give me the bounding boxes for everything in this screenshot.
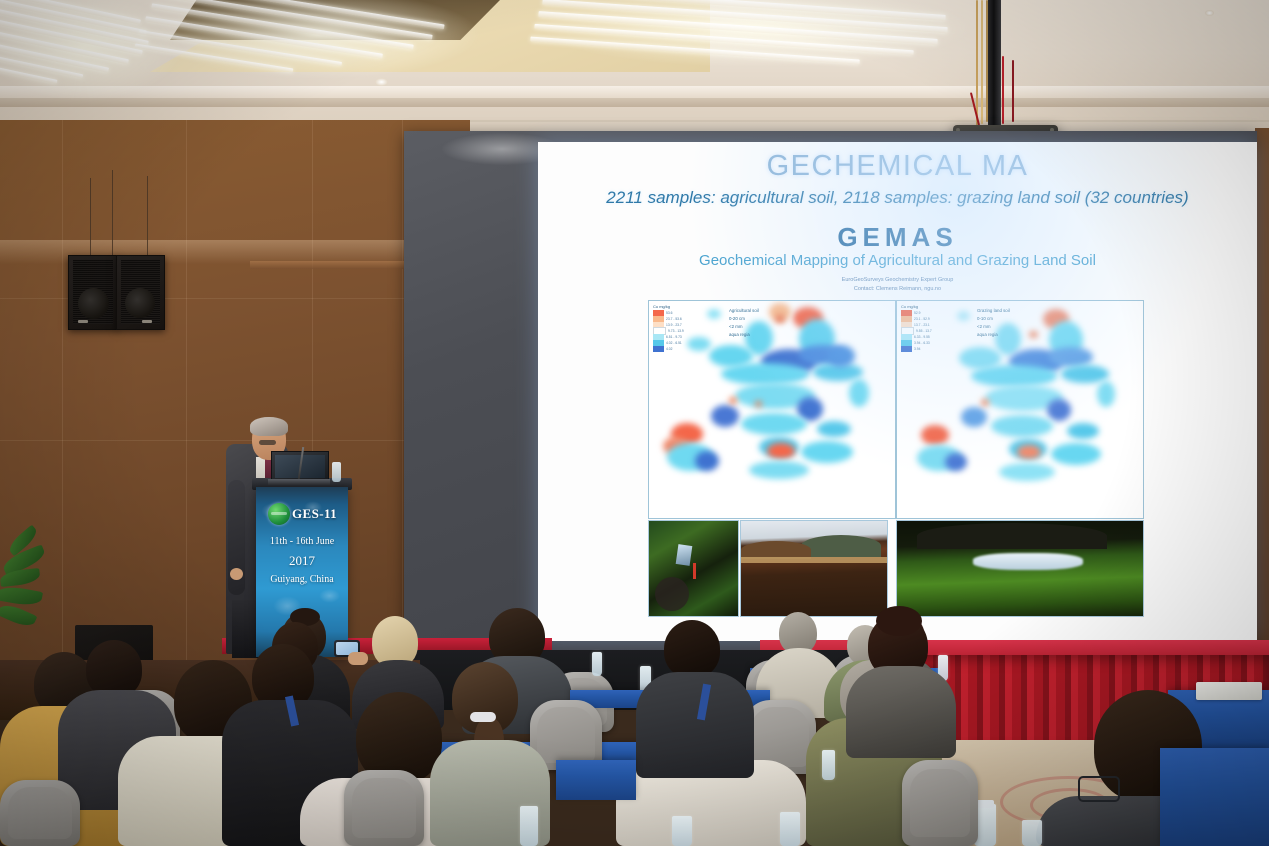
sampling-trowel [676, 544, 693, 566]
grazing-land-soil-map: Cu mg/kg 52.9 23.1 - 52.9 13.7 - 23.1 9.… [896, 300, 1144, 519]
legend-label: 9.73 - 13.9 [668, 329, 684, 333]
chandelier-right [536, 0, 976, 62]
water-bottle [520, 806, 538, 846]
hair-tie [470, 712, 496, 722]
map-medium: Grazing land soil [977, 307, 1010, 315]
torso [636, 672, 754, 778]
plowed-field-photo [740, 520, 888, 617]
projector-cables [972, 0, 1018, 134]
map-digestion: aqua regia [977, 331, 1010, 339]
conference-presentation-photo: GECHEMICAL MA 2211 samples: agricultural… [0, 0, 1269, 846]
legend-label: 4.02 - 6.51 [666, 341, 682, 345]
map-depth: 0-20 cm [729, 315, 759, 323]
legend-label: 13.7 - 23.1 [914, 323, 930, 327]
water-bottle [592, 652, 602, 676]
presenter-hair [250, 417, 288, 436]
legend-label: 4.02 [666, 347, 672, 351]
legend-swatch [653, 346, 664, 352]
audience-table [1160, 748, 1269, 846]
legend-label: 23.7 - 53.6 [666, 317, 682, 321]
water-bottle [1022, 820, 1042, 846]
presenter-hand [230, 568, 243, 580]
head [664, 620, 720, 678]
speaker-hanger-wire [90, 178, 91, 256]
event-dates-label: 11th - 16th June [256, 536, 348, 547]
audience-chair [902, 760, 978, 846]
ceiling-downlight [375, 78, 388, 86]
laptop-keyboard [268, 479, 330, 485]
wall-speaker-right [116, 255, 165, 330]
speaker-hanger-wire [147, 176, 148, 256]
legend-label: 53.6 [666, 311, 672, 315]
podium-water-bottle [332, 462, 341, 482]
bottle-cap [976, 800, 994, 808]
speaker-hanger-wire [112, 170, 113, 256]
scale-marker [693, 563, 696, 579]
projection-screen: GECHEMICAL MA 2211 samples: agricultural… [538, 142, 1257, 641]
map-medium: Agricultural soil [729, 307, 759, 315]
map-fraction: <2 mm [977, 323, 1010, 331]
grazing-land-photo [896, 520, 1144, 617]
map-metadata: Grazing land soil 0-10 cm <2 mm aqua reg… [977, 307, 1010, 340]
legend-title: Cu mg/kg [653, 304, 711, 309]
hand [348, 652, 368, 665]
legend-label: 6.33 - 9.55 [914, 335, 930, 339]
legend-label: 23.1 - 52.9 [914, 317, 930, 321]
slide-title: GECHEMICAL MA [538, 150, 1257, 183]
slide-fine-print: EuroGeoSurveys Geochemistry Expert Group… [538, 276, 1257, 293]
event-location-label: Guiyang, China [256, 574, 348, 585]
wall-speaker-left [68, 255, 118, 330]
legend-label: 3.94 - 6.33 [914, 341, 930, 345]
water-bottle [822, 750, 835, 780]
presenter-mustache [259, 440, 276, 445]
legend-swatch [901, 346, 912, 352]
right-wall-strip [1255, 128, 1269, 648]
slide-fine-print-line1: EuroGeoSurveys Geochemistry Expert Group [538, 276, 1257, 285]
map-digestion: aqua regia [729, 331, 759, 339]
legend-label: 3.94 [914, 347, 920, 351]
soil-sampling-photo [648, 520, 739, 617]
slide-project-name: Geochemical Mapping of Agricultural and … [538, 252, 1257, 269]
hair-bun [876, 606, 922, 636]
map-legend: Cu mg/kg 52.9 23.1 - 52.9 13.7 - 23.1 9.… [901, 304, 959, 352]
slide-fine-print-line2: Contact: Clemens Reimann, ngu.no [538, 285, 1257, 294]
crown-molding [0, 86, 1269, 98]
slide-subtitle: 2211 samples: agricultural soil, 2118 sa… [538, 188, 1257, 208]
map-fraction: <2 mm [729, 323, 759, 331]
audience-chair [0, 780, 80, 846]
torso [846, 666, 956, 758]
legend-label: 9.55 - 13.7 [916, 329, 932, 333]
chandelier-center [152, 0, 482, 74]
map-depth: 0-10 cm [977, 315, 1010, 323]
water-bottle [672, 816, 692, 846]
legend-label: 52.9 [914, 311, 920, 315]
audience-table [556, 760, 636, 800]
map-legend: Cu mg/kg 53.6 23.7 - 53.6 13.9 - 23.7 9.… [653, 304, 711, 352]
legend-label: 13.9 - 23.7 [666, 323, 682, 327]
slide-project-acronym: GEMAS [538, 222, 1257, 253]
globe-icon [268, 503, 290, 525]
map-metadata: Agricultural soil 0-20 cm <2 mm aqua reg… [729, 307, 759, 340]
event-code-label: GES-11 [292, 506, 337, 522]
eyeglasses [1078, 776, 1120, 802]
legend-label: 6.51 - 9.73 [666, 335, 682, 339]
legend-title: Cu mg/kg [901, 304, 959, 309]
water-bottle [780, 812, 800, 846]
agricultural-soil-map: Cu mg/kg 53.6 23.7 - 53.6 13.9 - 23.7 9.… [648, 300, 896, 519]
audience-chair [344, 770, 424, 846]
molding-shadow [0, 98, 1269, 107]
event-year-label: 2017 [256, 553, 348, 569]
paper-stack [1196, 682, 1262, 700]
ceiling-downlight [1205, 10, 1214, 16]
